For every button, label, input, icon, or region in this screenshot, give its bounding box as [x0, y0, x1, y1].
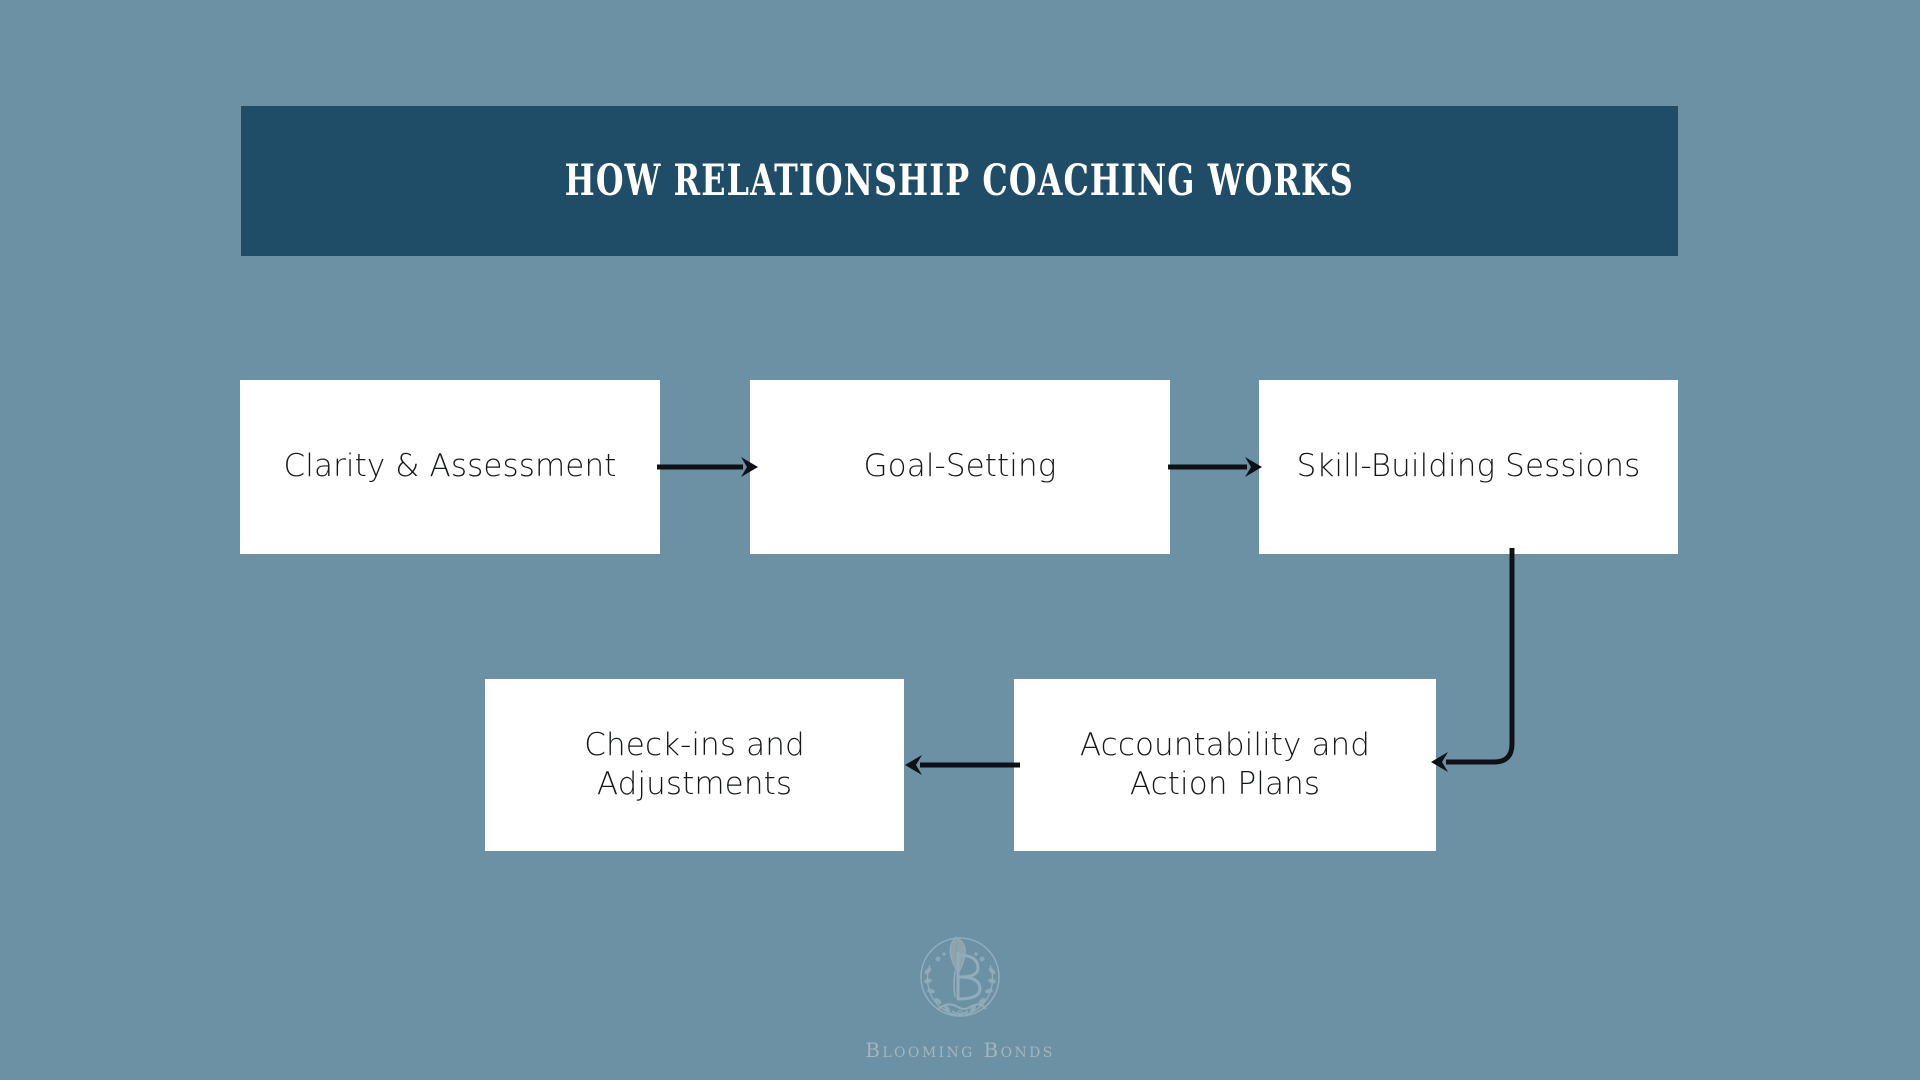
blooming-bonds-monogram-icon — [908, 925, 1012, 1034]
flow-node-label: Clarity & Assessment — [284, 447, 617, 486]
arrow-left-icon-accountability-to-checkins — [898, 744, 1022, 786]
slide-canvas: How Relationship Coaching Works Clarity … — [0, 0, 1920, 1080]
arrow-right-icon-clarity-to-goal — [655, 446, 760, 488]
brand-name: Blooming Bonds — [865, 1038, 1054, 1062]
flow-node-accountability-action-plans[interactable]: Accountability and Action Plans — [1014, 679, 1436, 851]
page-title: How Relationship Coaching Works — [565, 160, 1354, 203]
flow-node-skill-building-sessions[interactable]: Skill-Building Sessions — [1259, 380, 1678, 554]
footer-logo: Blooming Bonds — [830, 925, 1090, 1062]
flow-node-clarity-assessment[interactable]: Clarity & Assessment — [240, 380, 660, 554]
flow-node-label: Check-ins and Adjustments — [584, 726, 804, 804]
arrow-right-icon-goal-to-skill — [1166, 446, 1264, 488]
flow-node-check-ins-adjustments[interactable]: Check-ins and Adjustments — [485, 679, 904, 851]
flow-node-label: Goal-Setting — [864, 447, 1057, 486]
flow-node-label: Accountability and Action Plans — [1080, 726, 1370, 804]
flow-node-label: Skill-Building Sessions — [1297, 447, 1641, 486]
arrow-elbow-icon-skill-to-accountability — [1420, 548, 1530, 780]
title-banner: How Relationship Coaching Works — [241, 106, 1678, 256]
flow-node-goal-setting[interactable]: Goal-Setting — [750, 380, 1170, 554]
